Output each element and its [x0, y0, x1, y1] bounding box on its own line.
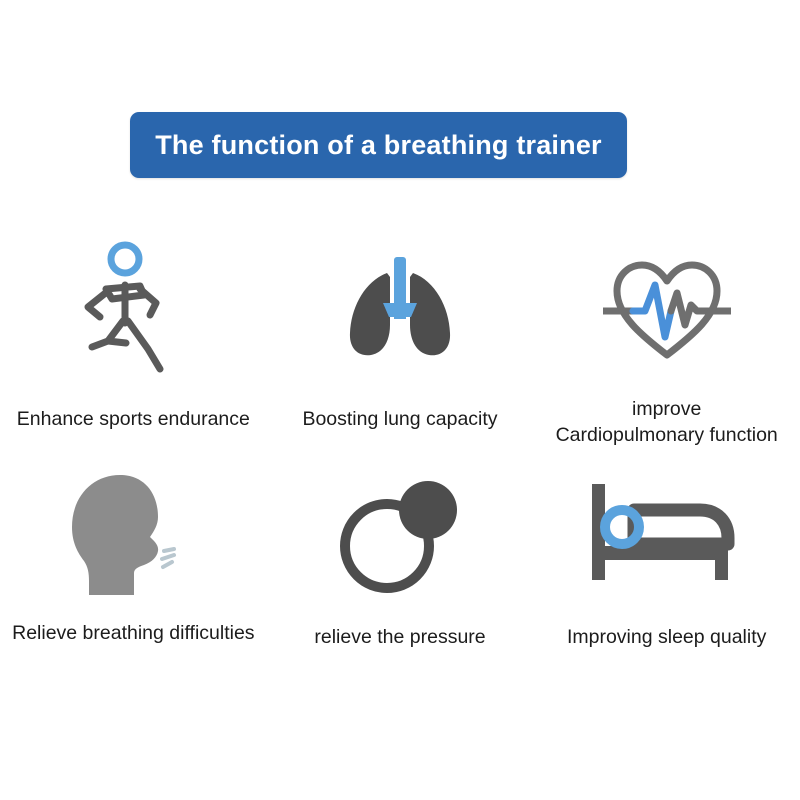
feature-row-bottom: Relieve breathing difficulties relieve t…	[0, 464, 800, 664]
feature-item-improve-cardiopulmonary-function: improve Cardiopulmonary function	[533, 232, 800, 464]
feature-item-relieve-breathing-difficulties: Relieve breathing difficulties	[0, 464, 267, 664]
feature-grid: Enhance sports endurance	[0, 232, 800, 664]
feature-label-line: Enhance sports endurance	[17, 406, 250, 432]
feature-label-line: Boosting lung capacity	[302, 406, 497, 432]
feature-label-line: relieve the pressure	[314, 624, 485, 650]
head-profile-breathing-icon	[58, 469, 208, 599]
running-person-icon	[78, 237, 188, 377]
feature-item-relieve-the-pressure: relieve the pressure	[267, 464, 534, 664]
icon-container	[582, 464, 752, 604]
feature-item-boosting-lung-capacity: Boosting lung capacity	[267, 232, 534, 464]
feature-item-enhance-sports-endurance: Enhance sports endurance	[0, 232, 267, 464]
icon-container	[335, 232, 465, 382]
icon-container	[597, 232, 737, 382]
title-banner: The function of a breathing trainer	[130, 112, 627, 178]
heart-pulse-icon	[597, 245, 737, 370]
feature-label-line: Relieve breathing difficulties	[12, 620, 254, 646]
feature-label: improve Cardiopulmonary function	[556, 396, 778, 448]
feature-label-line: improve	[556, 396, 778, 422]
feature-label-line: Cardiopulmonary function	[556, 422, 778, 448]
feature-label-line: Improving sleep quality	[567, 624, 766, 650]
two-circles-pressure-icon	[335, 472, 465, 597]
icon-container	[78, 232, 188, 382]
bed-sleep-icon	[582, 474, 752, 594]
feature-label: Relieve breathing difficulties	[12, 620, 254, 646]
feature-label: relieve the pressure	[314, 624, 485, 650]
feature-label: Boosting lung capacity	[302, 406, 497, 432]
lungs-icon	[335, 247, 465, 367]
icon-container	[335, 464, 465, 604]
feature-row-top: Enhance sports endurance	[0, 232, 800, 464]
feature-label: Improving sleep quality	[567, 624, 766, 650]
icon-container	[58, 464, 208, 604]
feature-item-improving-sleep-quality: Improving sleep quality	[533, 464, 800, 664]
infographic-poster: The function of a breathing trainer	[0, 0, 800, 800]
page-title: The function of a breathing trainer	[155, 130, 602, 161]
feature-label: Enhance sports endurance	[17, 406, 250, 432]
